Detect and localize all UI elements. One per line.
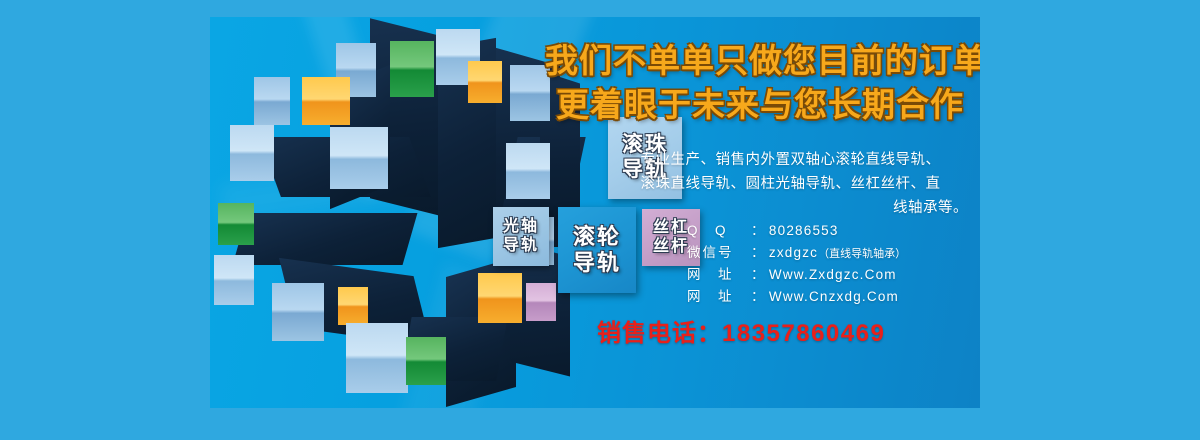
headline: 我们不单单只做您目前的订单 更着眼于未来与您长期合作 xyxy=(545,39,975,127)
contact-block: Q Q ： 80286553 微信号 ： zxdgzc （直线导轨轴承） 网 址… xyxy=(687,220,977,307)
contact-row-website-1: 网 址 ： Www.Zxdgzc.Com xyxy=(687,264,977,286)
headline-line-2: 更着眼于未来与您长期合作 xyxy=(545,83,975,127)
copy-column: 我们不单单只做您目前的订单 更着眼于未来与您长期合作 专业生产、销售内外置双轴心… xyxy=(545,17,975,408)
tile-optical-axis-guide[interactable]: 光轴 导轨 xyxy=(493,207,549,266)
headline-line-1: 我们不单单只做您目前的订单 xyxy=(545,39,975,83)
cube-face xyxy=(468,61,502,103)
contact-row-website-2: 网 址 ： Www.Cnzxdg.Com xyxy=(687,286,977,308)
cube-face xyxy=(478,273,522,323)
exploding-cubes-illustration: 滚珠 导轨 光轴 导轨 滚轮 导轨 丝杠 丝杆 xyxy=(210,17,570,408)
cube-shard xyxy=(233,213,418,265)
wechat-separator: ： xyxy=(751,242,765,264)
cube-face xyxy=(272,283,324,341)
sales-phone-label: 销售电话： xyxy=(597,320,722,347)
contact-row-qq: Q Q ： 80286553 xyxy=(687,220,977,242)
description-line-2: 滚珠直线导轨、圆柱光轴导轨、丝杠丝杆、直 xyxy=(613,173,968,197)
website-1-label: 网 址 xyxy=(687,264,751,286)
cube-face xyxy=(254,77,290,125)
tile-line-1: 光轴 xyxy=(503,218,539,237)
cube-face xyxy=(338,287,368,325)
cube-face xyxy=(302,77,350,125)
cube-face xyxy=(230,125,274,181)
wechat-label: 微信号 xyxy=(687,242,751,264)
website-2-separator: ： xyxy=(751,286,765,308)
description-line-3: 线轴承等。 xyxy=(613,197,968,221)
qq-value[interactable]: 80286553 xyxy=(769,220,839,242)
contact-row-wechat: 微信号 ： zxdgzc （直线导轨轴承） xyxy=(687,242,977,264)
sales-phone[interactable]: 销售电话：18357860469 xyxy=(597,313,977,348)
qq-separator: ： xyxy=(751,220,765,242)
website-1-value[interactable]: Www.Zxdgzc.Com xyxy=(769,264,897,286)
cube-face xyxy=(218,203,254,245)
wechat-note: （直线导轨轴承） xyxy=(818,246,906,264)
sales-phone-number: 18357860469 xyxy=(722,320,885,347)
cube-face xyxy=(406,337,446,385)
website-2-value[interactable]: Www.Cnzxdg.Com xyxy=(769,286,899,308)
banner-panel: 滚珠 导轨 光轴 导轨 滚轮 导轨 丝杠 丝杆 我们不单单只做您目前的订单 更着… xyxy=(210,17,980,408)
website-1-separator: ： xyxy=(751,264,765,286)
cube-face xyxy=(390,41,434,97)
description-paragraph: 专业生产、销售内外置双轴心滚轮直线导轨、 滚珠直线导轨、圆柱光轴导轨、丝杠丝杆、… xyxy=(613,149,968,221)
wechat-value[interactable]: zxdgzc xyxy=(769,242,818,264)
cube-face xyxy=(510,65,550,121)
cube-face xyxy=(346,323,408,393)
promo-banner: 滚珠 导轨 光轴 导轨 滚轮 导轨 丝杠 丝杆 我们不单单只做您目前的订单 更着… xyxy=(0,0,1200,440)
tile-line-2: 导轨 xyxy=(503,237,539,256)
qq-label: Q Q xyxy=(687,220,751,242)
cube-face xyxy=(330,127,388,189)
description-line-1: 专业生产、销售内外置双轴心滚轮直线导轨、 xyxy=(613,149,968,173)
cube-face xyxy=(506,143,550,199)
website-2-label: 网 址 xyxy=(687,286,751,308)
cube-face xyxy=(214,255,254,305)
